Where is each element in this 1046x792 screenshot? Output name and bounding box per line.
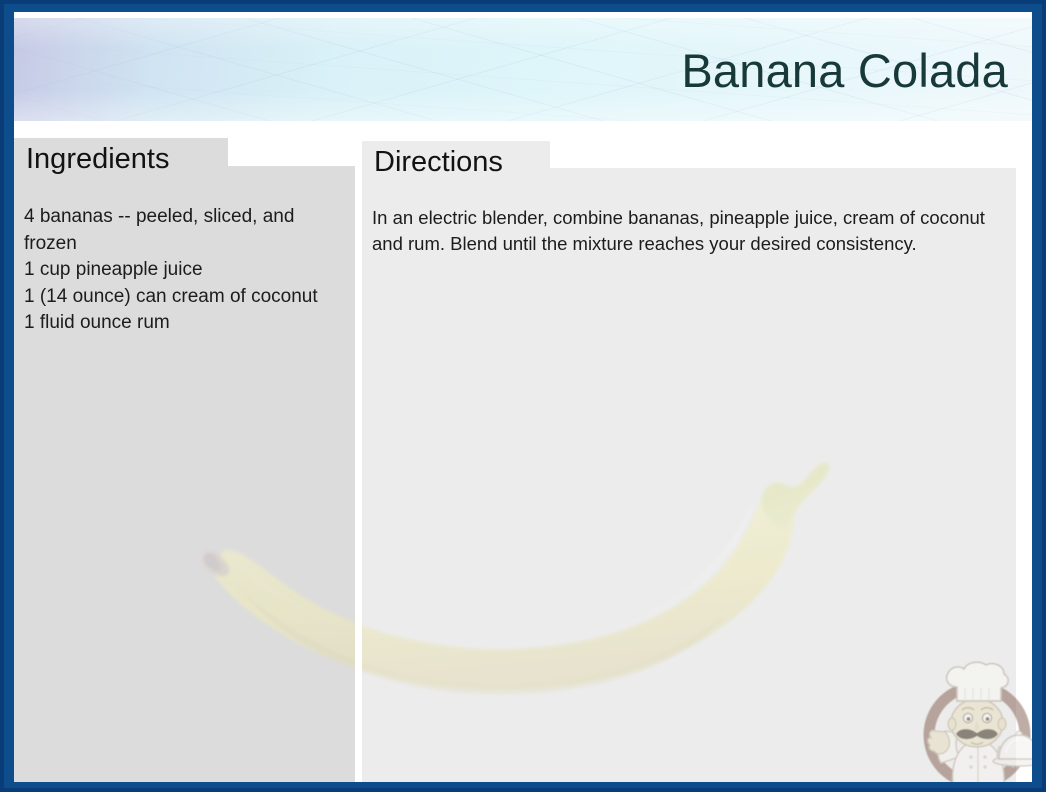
panel-gutter	[355, 132, 362, 782]
header-banner: Banana Colada	[14, 18, 1032, 121]
directions-panel	[362, 168, 1016, 782]
page-title: Banana Colada	[681, 46, 1008, 95]
directions-heading: Directions	[362, 141, 550, 185]
ingredients-list: 4 bananas -- peeled, sliced, and frozen …	[24, 204, 350, 337]
recipe-card-page: Banana Colada	[0, 0, 1046, 792]
recipe-card: Banana Colada	[14, 12, 1032, 782]
ingredients-heading: Ingredients	[14, 138, 228, 182]
directions-text: In an electric blender, combine bananas,…	[372, 205, 1012, 256]
